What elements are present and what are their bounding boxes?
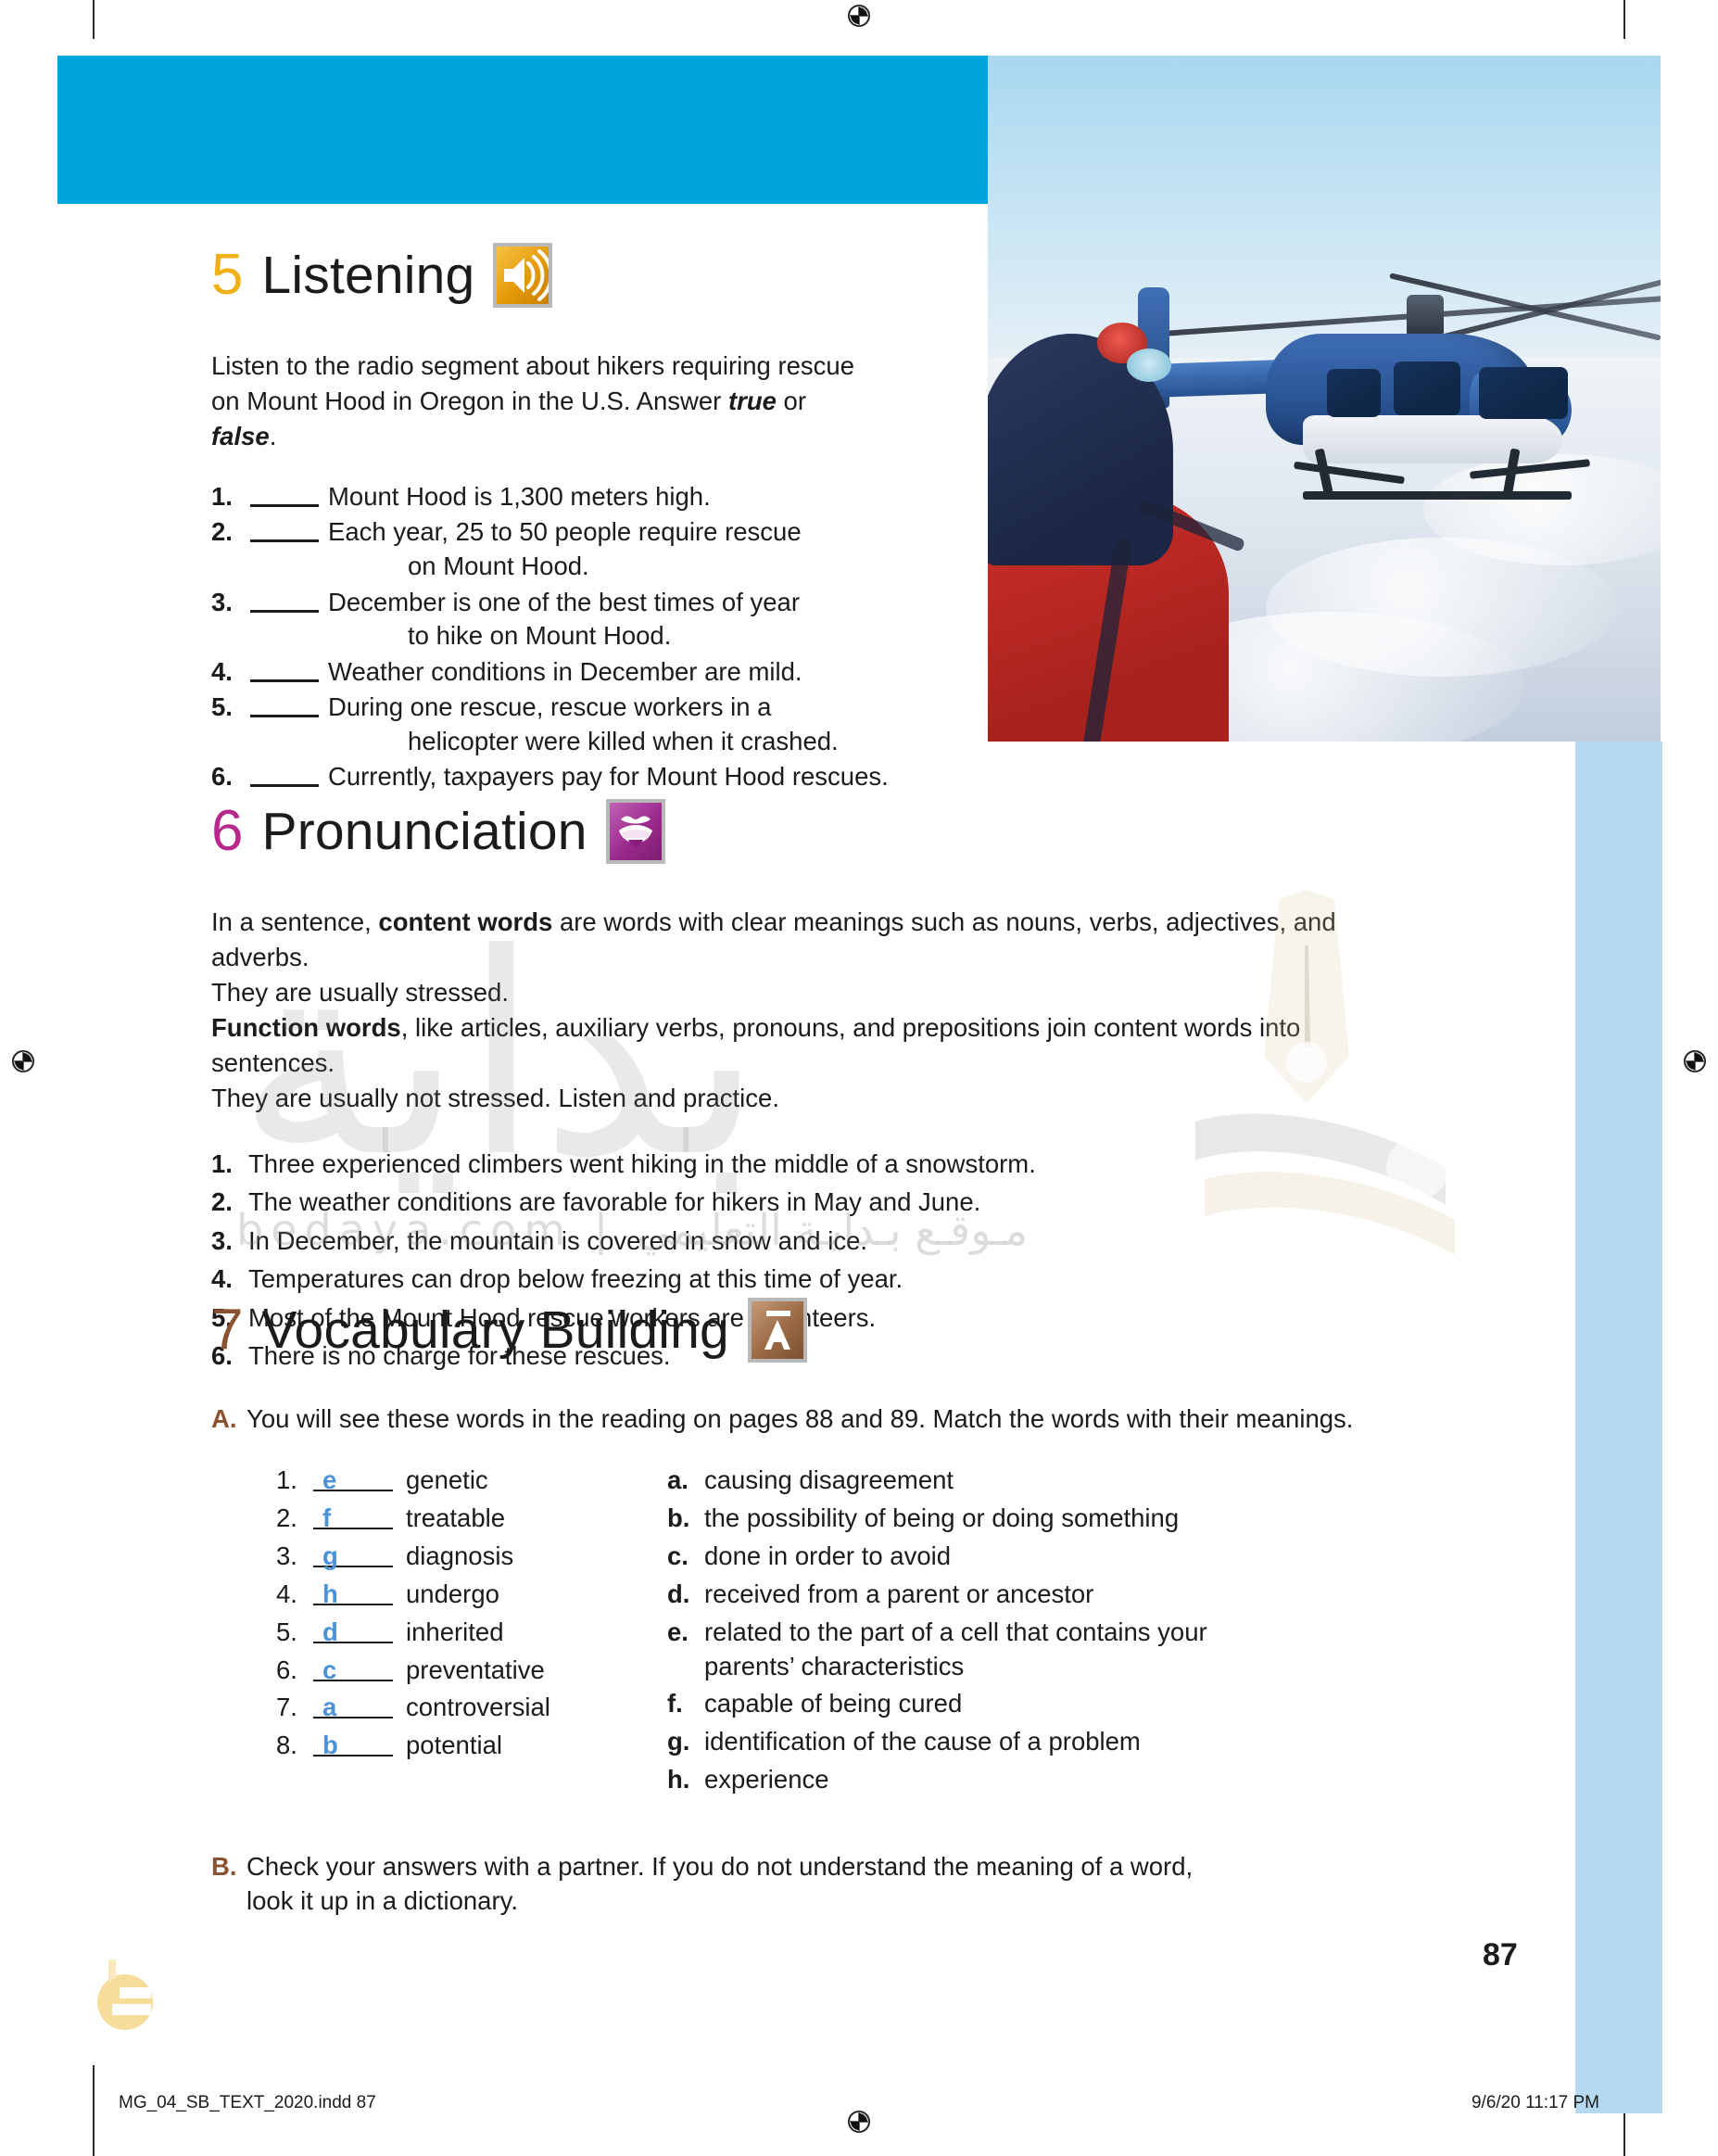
item-number: 2. <box>276 1502 313 1536</box>
listening-question-list: 1. Mount Hood is 1,300 meters high. 2. E… <box>211 480 916 794</box>
listening-instructions: Listen to the radio segment about hikers… <box>211 349 860 454</box>
definition-text: identification of the cause of a problem <box>704 1725 1141 1759</box>
part-a-instructions: You will see these words in the reading … <box>246 1401 1353 1436</box>
definition-letter: g. <box>667 1725 704 1759</box>
item-number: 1. <box>211 480 246 514</box>
item-number: 6. <box>211 760 246 794</box>
vocab-word: preventative <box>393 1654 545 1688</box>
footer-timestamp: 9/6/20 11:17 PM <box>1472 2093 1599 2113</box>
vocab-word: potential <box>393 1729 502 1763</box>
answer-blank[interactable]: g <box>313 1540 393 1567</box>
section-title-pronunciation: Pronunciation <box>261 805 587 858</box>
vocab-word-row: 8. b potential <box>276 1729 582 1763</box>
definition-letter: b. <box>667 1502 704 1536</box>
vocabulary-word-column: 1. e genetic 2. f treatable 3. g diagnos… <box>276 1464 582 1801</box>
vocab-word: treatable <box>393 1502 505 1536</box>
vocabulary-part-a: A. You will see these words in the readi… <box>211 1401 1434 1436</box>
pronunciation-heading: 6 Pronunciation <box>211 799 1416 864</box>
item-text-continued: helicopter were killed when it crashed. <box>328 725 839 759</box>
definition-text: experience <box>704 1763 829 1797</box>
item-number: 5. <box>211 691 246 758</box>
vocabulary-part-b: B. Check your answers with a partner. If… <box>211 1849 1434 1919</box>
listening-item: 5. During one rescue, rescue workers in … <box>211 691 916 758</box>
pronunciation-paragraph-2: Function words, like articles, auxiliary… <box>211 1010 1370 1081</box>
listening-heading: 5 Listening <box>211 243 916 308</box>
answer-blank[interactable]: a <box>313 1691 393 1718</box>
vocabulary-matching: 1. e genetic 2. f treatable 3. g diagnos… <box>276 1464 1434 1801</box>
answer-blank[interactable] <box>250 691 319 717</box>
vocab-word: controversial <box>393 1691 550 1725</box>
vocab-word-row: 2. f treatable <box>276 1502 582 1536</box>
item-number: 3. <box>211 1224 248 1259</box>
definition-row: d. received from a parent or ancestor <box>667 1578 1316 1612</box>
item-number: 4. <box>211 655 246 690</box>
listening-false-word: false <box>211 422 270 450</box>
definition-row: f. capable of being cured <box>667 1687 1316 1721</box>
vocab-word-row: 7. a controversial <box>276 1691 582 1725</box>
section-number-6: 6 <box>211 803 243 860</box>
letter-a-macron-icon <box>748 1298 807 1363</box>
answer-blank[interactable]: d <box>313 1616 393 1643</box>
item-number: 2. <box>211 1186 248 1220</box>
item-text-continued: on Mount Hood. <box>328 550 802 584</box>
page-number: 87 <box>1483 1937 1518 1973</box>
vocabulary-definition-column: a. causing disagreement b. the possibili… <box>667 1464 1316 1801</box>
listening-item: 1. Mount Hood is 1,300 meters high. <box>211 480 916 514</box>
item-number: 4. <box>211 1262 248 1297</box>
section-vocabulary-building: 7 Vocabulary Building A. You will see th… <box>211 1298 1434 1919</box>
listening-item: 2. Each year, 25 to 50 people require re… <box>211 515 916 583</box>
section-title-vocabulary: Vocabulary Building <box>261 1304 728 1357</box>
function-words-term: Function words <box>211 1013 401 1042</box>
listening-true-word: true <box>728 387 777 415</box>
crop-mark-top-right <box>1623 0 1625 39</box>
definition-row: h. experience <box>667 1763 1316 1797</box>
listening-instruction-period: . <box>270 422 277 450</box>
answer-blank[interactable]: c <box>313 1654 393 1681</box>
vocab-word-row: 6. c preventative <box>276 1654 582 1688</box>
definition-text: related to the part of a cell that conta… <box>704 1617 1207 1646</box>
section-number-5: 5 <box>211 247 243 304</box>
pronunciation-item: 3. In December, the mountain is covered … <box>211 1224 1416 1259</box>
definition-letter: e. <box>667 1616 704 1684</box>
item-text: During one rescue, rescue workers in a <box>328 692 771 721</box>
audio-speaker-icon <box>493 243 552 308</box>
vocab-word: genetic <box>393 1464 488 1498</box>
item-text: Currently, taxpayers pay for Mount Hood … <box>328 760 889 794</box>
vocab-word-row: 4. h undergo <box>276 1578 582 1612</box>
definition-letter: a. <box>667 1464 704 1498</box>
item-number: 1. <box>211 1148 248 1182</box>
vocab-word: inherited <box>393 1616 504 1650</box>
definition-letter: d. <box>667 1578 704 1612</box>
definition-letter: f. <box>667 1687 704 1721</box>
item-number: 1. <box>276 1464 313 1498</box>
item-text: Each year, 25 to 50 people require rescu… <box>328 517 802 546</box>
answer-blank[interactable] <box>250 655 319 682</box>
answer-blank[interactable] <box>250 760 319 787</box>
item-number: 2. <box>211 515 246 583</box>
vocab-word: diagnosis <box>393 1540 513 1574</box>
decorative-side-bar <box>1575 742 1662 2113</box>
item-text-continued: to hike on Mount Hood. <box>328 619 800 653</box>
item-number: 3. <box>276 1540 313 1574</box>
part-letter-a: A. <box>211 1401 246 1436</box>
definition-text: causing disagreement <box>704 1464 954 1498</box>
answer-blank[interactable]: e <box>313 1464 393 1491</box>
footer-filename: MG_04_SB_TEXT_2020.indd 87 <box>119 2093 376 2113</box>
pronunciation-paragraph-1: In a sentence, content words are words w… <box>211 905 1370 975</box>
item-text: Temperatures can drop below freezing at … <box>248 1262 903 1297</box>
definition-text: capable of being cured <box>704 1687 962 1721</box>
pronunciation-paragraph-2b: They are usually not stressed. Listen an… <box>211 1081 1370 1116</box>
definition-text-continued: parents’ characteristics <box>704 1650 1207 1684</box>
definition-row: b. the possibility of being or doing som… <box>667 1502 1316 1536</box>
definition-row: a. causing disagreement <box>667 1464 1316 1498</box>
section-listening: 5 Listening Listen to the radio segment … <box>211 243 916 796</box>
answer-blank[interactable]: h <box>313 1578 393 1605</box>
vocab-word: undergo <box>393 1578 499 1612</box>
pronunciation-item: 4. Temperatures can drop below freezing … <box>211 1262 1416 1297</box>
content-words-term: content words <box>378 907 552 936</box>
definition-row: c. done in order to avoid <box>667 1540 1316 1574</box>
item-number: 8. <box>276 1729 313 1763</box>
vocabulary-heading: 7 Vocabulary Building <box>211 1298 1434 1363</box>
item-text: December is one of the best times of yea… <box>328 588 800 616</box>
section-number-7: 7 <box>211 1301 243 1359</box>
vocab-word-row: 1. e genetic <box>276 1464 582 1498</box>
definition-text: the possibility of being or doing someth… <box>704 1502 1179 1536</box>
item-text: Three experienced climbers went hiking i… <box>248 1148 1036 1182</box>
definition-letter: c. <box>667 1540 704 1574</box>
listening-item: 4. Weather conditions in December are mi… <box>211 655 916 690</box>
listening-item: 3. December is one of the best times of … <box>211 586 916 653</box>
publisher-logo-icon <box>88 1947 158 2035</box>
registration-mark-right <box>1679 1046 1711 1077</box>
definition-row: g. identification of the cause of a prob… <box>667 1725 1316 1759</box>
definition-text: done in order to avoid <box>704 1540 951 1574</box>
item-text: In December, the mountain is covered in … <box>248 1224 867 1259</box>
answer-blank[interactable] <box>250 480 319 507</box>
item-number: 4. <box>276 1578 313 1612</box>
answer-blank[interactable] <box>250 586 319 613</box>
item-text: The weather conditions are favorable for… <box>248 1186 980 1220</box>
para1-lead: In a sentence, <box>211 907 378 936</box>
item-number: 6. <box>276 1654 313 1688</box>
answer-blank[interactable]: b <box>313 1729 393 1757</box>
definition-row: e. related to the part of a cell that co… <box>667 1616 1316 1684</box>
part-letter-b: B. <box>211 1849 246 1919</box>
pronunciation-paragraph-1b: They are usually stressed. <box>211 975 1370 1010</box>
listening-item: 6. Currently, taxpayers pay for Mount Ho… <box>211 760 916 794</box>
item-number: 5. <box>276 1616 313 1650</box>
section-pronunciation: 6 Pronunciation In a sentence, content w… <box>211 799 1416 1378</box>
mouth-lips-icon <box>606 799 665 864</box>
part-b-instructions: Check your answers with a partner. If yo… <box>246 1852 1193 1881</box>
item-text: Weather conditions in December are mild. <box>328 655 802 690</box>
definition-text: received from a parent or ancestor <box>704 1578 1093 1612</box>
section-title-listening: Listening <box>261 249 474 302</box>
vocab-word-row: 3. g diagnosis <box>276 1540 582 1574</box>
listening-instruction-or: or <box>777 387 806 415</box>
pronunciation-item: 2. The weather conditions are favorable … <box>211 1186 1416 1220</box>
textbook-page: بداية bedaya.com | مـوقـع بـدايـة التعلي… <box>0 0 1718 2156</box>
item-text: Mount Hood is 1,300 meters high. <box>328 480 711 514</box>
definition-letter: h. <box>667 1763 704 1797</box>
pronunciation-item: 1. Three experienced climbers went hikin… <box>211 1148 1416 1182</box>
item-number: 3. <box>211 586 246 653</box>
answer-blank[interactable] <box>250 515 319 542</box>
vocab-word-row: 5. d inherited <box>276 1616 582 1650</box>
answer-blank[interactable]: f <box>313 1502 393 1529</box>
item-number: 7. <box>276 1691 313 1725</box>
part-b-instructions-line2: look it up in a dictionary. <box>246 1886 518 1915</box>
